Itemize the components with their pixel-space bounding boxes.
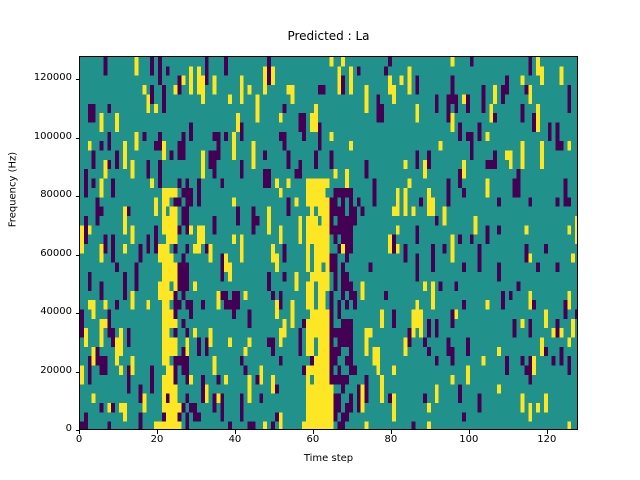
- y-tick-label: 40000: [0, 306, 72, 317]
- y-tick-label: 20000: [0, 365, 72, 376]
- x-axis-label: Time step: [79, 453, 578, 464]
- y-tick-mark: [76, 255, 80, 256]
- x-tick-label: 100: [449, 434, 489, 445]
- x-tick-mark: [469, 430, 470, 434]
- spectrogram-heatmap: [80, 57, 578, 430]
- y-tick-label: 0: [0, 423, 72, 434]
- y-tick-mark: [76, 372, 80, 373]
- x-tick-label: 0: [59, 434, 99, 445]
- y-tick-mark: [76, 79, 80, 80]
- page-title: Predicted : La: [79, 29, 578, 43]
- y-tick-label: 120000: [0, 72, 72, 83]
- x-tick-mark: [391, 430, 392, 434]
- y-tick-mark: [76, 196, 80, 197]
- heatmap-plot-area: [79, 56, 578, 430]
- matplotlib-figure: Predicted : La Frequency (Hz) Time step …: [0, 0, 640, 480]
- x-tick-label: 20: [137, 434, 177, 445]
- y-tick-label: 100000: [0, 131, 72, 142]
- x-tick-mark: [79, 430, 80, 434]
- x-tick-label: 80: [371, 434, 411, 445]
- x-tick-mark: [547, 430, 548, 434]
- y-tick-label: 60000: [0, 248, 72, 259]
- x-tick-mark: [313, 430, 314, 434]
- x-tick-mark: [235, 430, 236, 434]
- y-tick-mark: [76, 313, 80, 314]
- y-tick-label: 80000: [0, 189, 72, 200]
- x-tick-label: 40: [215, 434, 255, 445]
- y-tick-mark: [76, 138, 80, 139]
- x-tick-mark: [157, 430, 158, 434]
- x-tick-label: 120: [527, 434, 567, 445]
- x-tick-label: 60: [293, 434, 333, 445]
